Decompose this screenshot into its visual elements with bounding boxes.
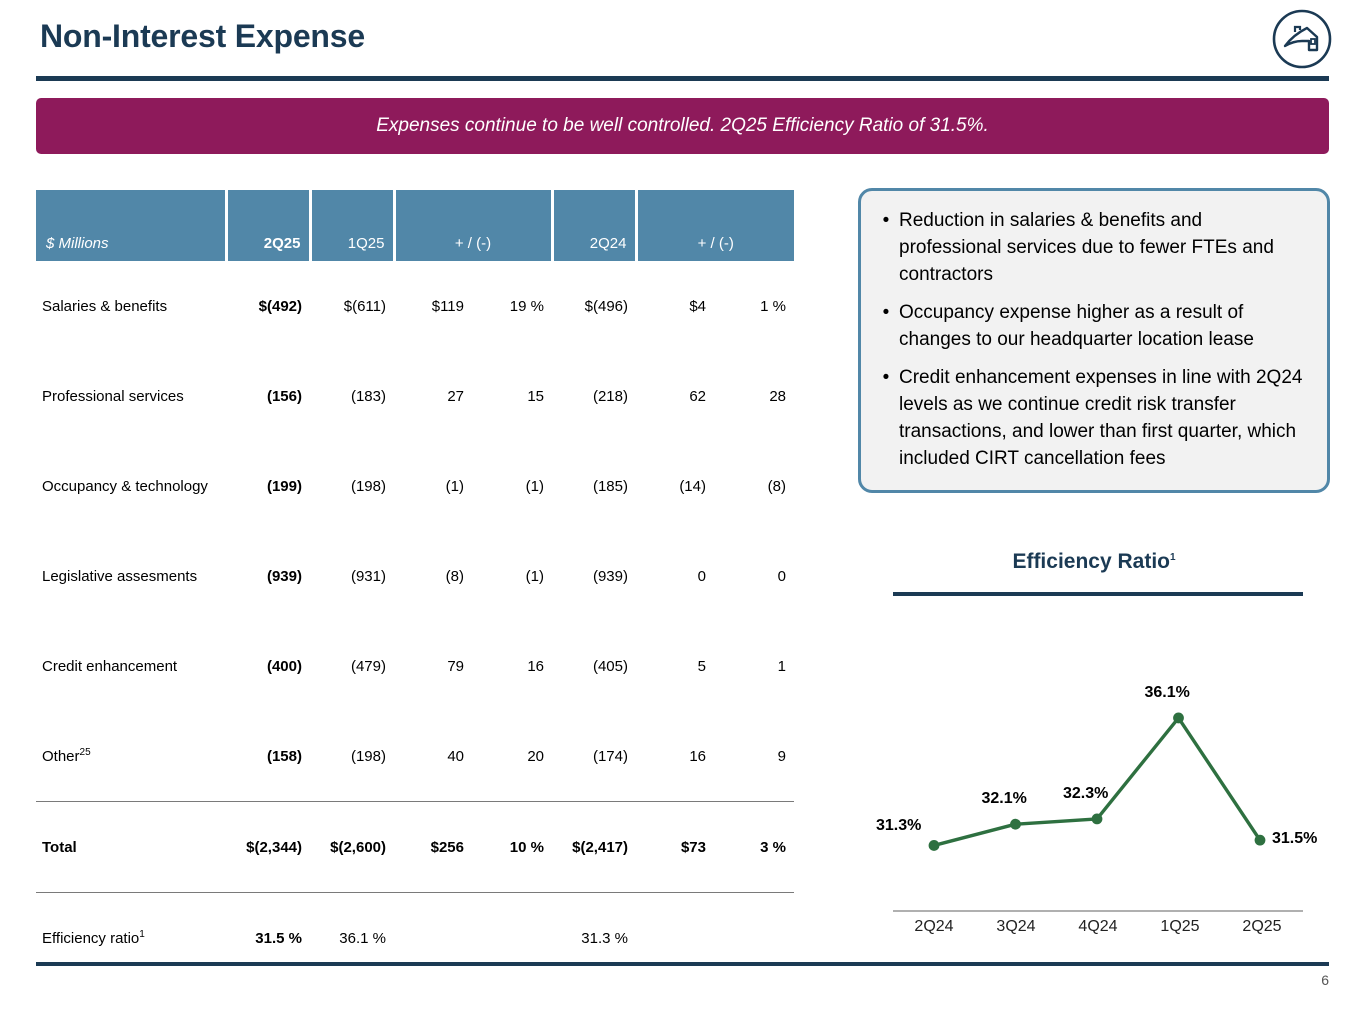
cell-delta_q_pct: 20 bbox=[472, 711, 552, 802]
cell-q1_2025: 36.1 % bbox=[310, 893, 394, 984]
cell-q1_2025: (183) bbox=[310, 351, 394, 441]
cell-delta_q_pct: (1) bbox=[472, 441, 552, 531]
footer-divider bbox=[36, 962, 1329, 966]
cell-q2_2025: 31.5 % bbox=[226, 893, 310, 984]
chart-point-label: 31.5% bbox=[1272, 830, 1317, 848]
cell-q1_2025: (931) bbox=[310, 531, 394, 621]
cell-q2_2024: (218) bbox=[552, 351, 636, 441]
cell-q1_2025: $(2,600) bbox=[310, 802, 394, 893]
cell-q2_2024: (939) bbox=[552, 531, 636, 621]
cell-delta_q_pct bbox=[472, 893, 552, 984]
cell-q2_2025: $(492) bbox=[226, 261, 310, 351]
callout-bullet-text: Credit enhancement expenses in line with… bbox=[899, 364, 1309, 472]
chart-title-footnote: 1 bbox=[1170, 552, 1176, 563]
header-2q25: 2Q25 bbox=[226, 190, 310, 261]
cell-q2_2024: 31.3 % bbox=[552, 893, 636, 984]
cell-q2_2025: (199) bbox=[226, 441, 310, 531]
cell-delta_q_amt: 27 bbox=[394, 351, 472, 441]
chart-x-axis-line bbox=[893, 910, 1303, 912]
row-label: Total bbox=[36, 802, 226, 893]
efficiency-ratio-line-chart: 31.3%32.1%32.3%36.1%31.5% bbox=[880, 610, 1320, 910]
cell-delta_y_pct: 0 bbox=[714, 531, 794, 621]
title-divider bbox=[36, 76, 1329, 81]
chart-title-text: Efficiency Ratio bbox=[1012, 550, 1170, 573]
bullet-dot-icon: • bbox=[873, 364, 899, 472]
cell-delta_q_pct: 10 % bbox=[472, 802, 552, 893]
cell-q2_2024: (405) bbox=[552, 621, 636, 711]
cell-delta_y_pct: 3 % bbox=[714, 802, 794, 893]
cell-delta_q_amt bbox=[394, 893, 472, 984]
chart-data-point bbox=[1010, 819, 1021, 830]
chart-point-label: 32.3% bbox=[1063, 785, 1108, 803]
chart-data-point bbox=[929, 840, 940, 851]
cell-delta_y_amt: 62 bbox=[636, 351, 714, 441]
chart-x-axis-labels: 2Q243Q244Q241Q252Q25 bbox=[893, 918, 1303, 936]
header-delta-year: + / (-) bbox=[636, 190, 794, 261]
cell-delta_y_amt bbox=[636, 893, 714, 984]
cell-q2_2024: $(496) bbox=[552, 261, 636, 351]
cell-q2_2025: (158) bbox=[226, 711, 310, 802]
chart-series-line bbox=[934, 718, 1260, 846]
cell-delta_y_pct: (8) bbox=[714, 441, 794, 531]
cell-q1_2025: (198) bbox=[310, 711, 394, 802]
cell-delta_y_pct: 28 bbox=[714, 351, 794, 441]
callout-bullet-text: Reduction in salaries & benefits and pro… bbox=[899, 207, 1309, 288]
cell-q2_2025: $(2,344) bbox=[226, 802, 310, 893]
page-title: Non-Interest Expense bbox=[40, 18, 365, 55]
chart-title-divider bbox=[893, 592, 1303, 596]
x-tick-label: 2Q24 bbox=[893, 918, 975, 936]
callout-bullet-1: •Reduction in salaries & benefits and pr… bbox=[873, 207, 1309, 288]
row-label: Efficiency ratio1 bbox=[36, 893, 226, 984]
x-tick-label: 1Q25 bbox=[1139, 918, 1221, 936]
header-delta-quarter: + / (-) bbox=[394, 190, 552, 261]
table-row: Other25(158)(198)4020(174)169 bbox=[36, 711, 794, 802]
row-label: Legislative assesments bbox=[36, 531, 226, 621]
row-label-footnote: 1 bbox=[139, 929, 145, 940]
header-1q25: 1Q25 bbox=[310, 190, 394, 261]
bullet-dot-icon: • bbox=[873, 207, 899, 288]
table-row: Legislative assesments(939)(931)(8)(1)(9… bbox=[36, 531, 794, 621]
commentary-callout-box: •Reduction in salaries & benefits and pr… bbox=[858, 188, 1330, 493]
cell-delta_q_amt: (8) bbox=[394, 531, 472, 621]
cell-delta_y_amt: $73 bbox=[636, 802, 714, 893]
cell-delta_y_amt: 0 bbox=[636, 531, 714, 621]
cell-delta_q_amt: (1) bbox=[394, 441, 472, 531]
highlight-banner: Expenses continue to be well controlled.… bbox=[36, 98, 1329, 154]
cell-delta_q_amt: 79 bbox=[394, 621, 472, 711]
row-label: Occupancy & technology bbox=[36, 441, 226, 531]
chart-data-point bbox=[1173, 713, 1184, 724]
table-row: Professional services(156)(183)2715(218)… bbox=[36, 351, 794, 441]
table-row: Efficiency ratio131.5 %36.1 %31.3 % bbox=[36, 893, 794, 984]
cell-delta_q_pct: 16 bbox=[472, 621, 552, 711]
cell-delta_y_amt: 5 bbox=[636, 621, 714, 711]
page-number: 6 bbox=[1321, 972, 1329, 988]
cell-delta_q_amt: 40 bbox=[394, 711, 472, 802]
header-2q24: 2Q24 bbox=[552, 190, 636, 261]
cell-q2_2024: (185) bbox=[552, 441, 636, 531]
cell-delta_q_pct: 15 bbox=[472, 351, 552, 441]
header-millions: $ Millions bbox=[36, 190, 226, 261]
row-label: Other25 bbox=[36, 711, 226, 802]
x-tick-label: 4Q24 bbox=[1057, 918, 1139, 936]
callout-bullet-text: Occupancy expense higher as a result of … bbox=[899, 299, 1309, 353]
chart-point-label: 36.1% bbox=[1145, 684, 1190, 702]
cell-delta_q_pct: (1) bbox=[472, 531, 552, 621]
row-label: Professional services bbox=[36, 351, 226, 441]
cell-delta_y_amt: (14) bbox=[636, 441, 714, 531]
cell-delta_q_amt: $256 bbox=[394, 802, 472, 893]
cell-q1_2025: (198) bbox=[310, 441, 394, 531]
cell-delta_y_amt: $4 bbox=[636, 261, 714, 351]
chart-title: Efficiency Ratio1 bbox=[858, 550, 1330, 574]
row-label: Credit enhancement bbox=[36, 621, 226, 711]
cell-q2_2024: (174) bbox=[552, 711, 636, 802]
table-row: Total$(2,344)$(2,600)$25610 %$(2,417)$73… bbox=[36, 802, 794, 893]
cell-delta_y_pct bbox=[714, 893, 794, 984]
table-header-row: $ Millions 2Q25 1Q25 + / (-) 2Q24 + / (-… bbox=[36, 190, 794, 261]
x-tick-label: 2Q25 bbox=[1221, 918, 1303, 936]
table-row: Salaries & benefits$(492)$(611)$11919 %$… bbox=[36, 261, 794, 351]
fannie-mae-house-logo-icon bbox=[1271, 8, 1333, 70]
cell-delta_q_amt: $119 bbox=[394, 261, 472, 351]
banner-text: Expenses continue to be well controlled.… bbox=[376, 115, 989, 137]
cell-delta_y_amt: 16 bbox=[636, 711, 714, 802]
chart-data-point bbox=[1255, 835, 1266, 846]
cell-delta_q_pct: 19 % bbox=[472, 261, 552, 351]
x-tick-label: 3Q24 bbox=[975, 918, 1057, 936]
chart-point-label: 32.1% bbox=[982, 790, 1027, 808]
callout-bullet-3: •Credit enhancement expenses in line wit… bbox=[873, 364, 1309, 472]
cell-delta_y_pct: 9 bbox=[714, 711, 794, 802]
chart-data-point bbox=[1092, 813, 1103, 824]
bullet-dot-icon: • bbox=[873, 299, 899, 353]
callout-bullet-2: •Occupancy expense higher as a result of… bbox=[873, 299, 1309, 353]
table-row: Credit enhancement(400)(479)7916(405)51 bbox=[36, 621, 794, 711]
cell-q2_2025: (939) bbox=[226, 531, 310, 621]
cell-q2_2024: $(2,417) bbox=[552, 802, 636, 893]
row-label-footnote: 25 bbox=[80, 747, 91, 758]
cell-delta_y_pct: 1 % bbox=[714, 261, 794, 351]
cell-delta_y_pct: 1 bbox=[714, 621, 794, 711]
cell-q2_2025: (400) bbox=[226, 621, 310, 711]
non-interest-expense-table: $ Millions 2Q25 1Q25 + / (-) 2Q24 + / (-… bbox=[36, 190, 794, 983]
cell-q2_2025: (156) bbox=[226, 351, 310, 441]
row-label: Salaries & benefits bbox=[36, 261, 226, 351]
chart-plot-area bbox=[880, 610, 1320, 910]
cell-q1_2025: (479) bbox=[310, 621, 394, 711]
chart-point-label: 31.3% bbox=[876, 817, 921, 835]
table-row: Occupancy & technology(199)(198)(1)(1)(1… bbox=[36, 441, 794, 531]
cell-q1_2025: $(611) bbox=[310, 261, 394, 351]
